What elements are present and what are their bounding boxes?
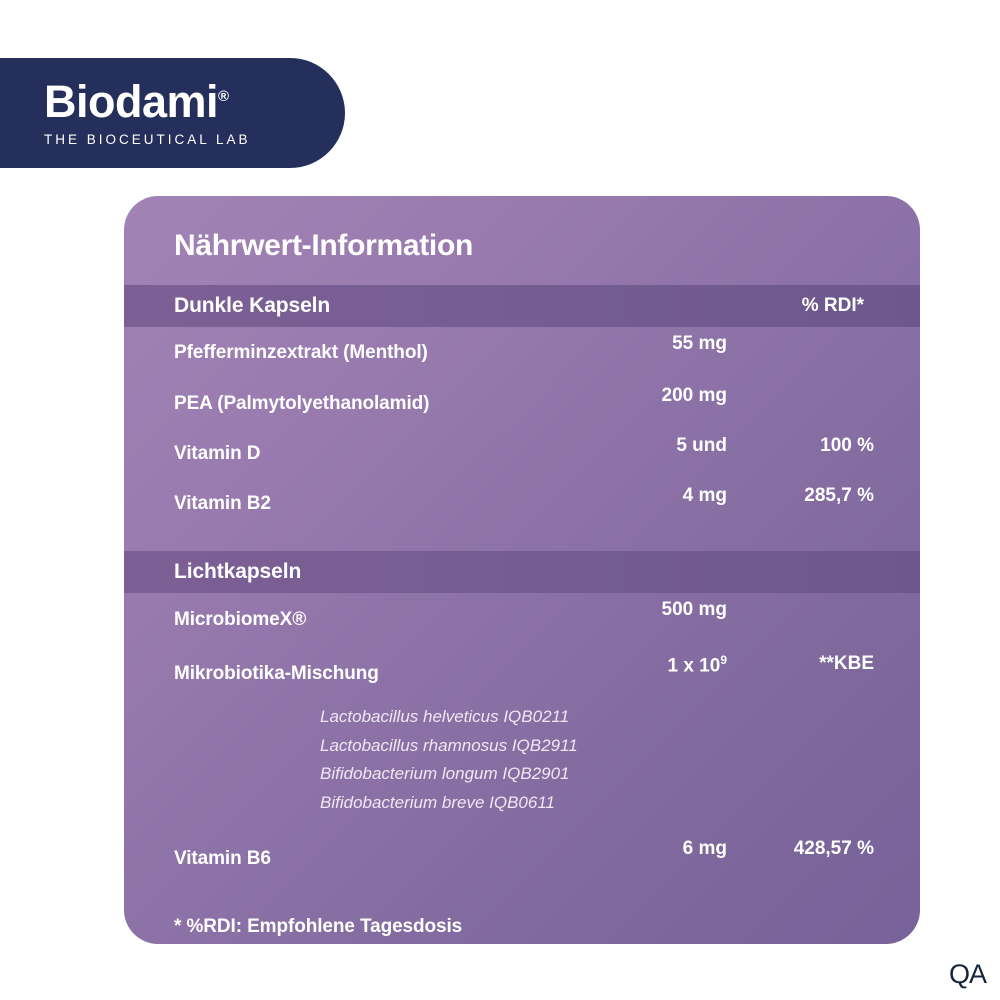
brand-tagline: THE BIOCEUTICAL LAB bbox=[44, 132, 345, 147]
section-header-lichtkapseln: Lichtkapseln bbox=[124, 551, 920, 593]
footnote-rdi: * %RDI: Empfohlene Tagesdosis bbox=[174, 913, 920, 940]
table-row: PEA (Palmytolyethanolamid) 200 mg bbox=[124, 379, 920, 429]
nutrient-amount: 6 mg bbox=[683, 838, 727, 860]
nutrient-amount: 200 mg bbox=[662, 385, 727, 407]
nutrient-rdi: 100 % bbox=[820, 435, 874, 457]
nutrient-label: MicrobiomeX® bbox=[174, 609, 306, 631]
section-title: Dunkle Kapseln bbox=[174, 294, 802, 318]
nutrient-label: Pfefferminzextrakt (Menthol) bbox=[174, 342, 428, 364]
section-header-dunkle-kapseln: Dunkle Kapseln % RDI* bbox=[124, 285, 920, 327]
nutrient-rdi: 285,7 % bbox=[804, 485, 874, 507]
nutrient-amount: 500 mg bbox=[662, 599, 727, 621]
table-row: Vitamin B2 4 mg 285,7 % bbox=[124, 479, 920, 529]
nutrient-rdi: 428,57 % bbox=[794, 838, 874, 860]
nutrition-information-card: Nährwert-Information Dunkle Kapseln % RD… bbox=[124, 196, 920, 944]
brand-wordmark: Biodami® bbox=[44, 79, 345, 124]
nutrient-label: PEA (Palmytolyethanolamid) bbox=[174, 393, 429, 415]
nutrient-amount: 55 mg bbox=[672, 333, 727, 355]
table-row: MicrobiomeX® 500 mg bbox=[124, 593, 920, 647]
nutrient-label: Vitamin D bbox=[174, 443, 260, 465]
table-row: Pfefferminzextrakt (Menthol) 55 mg bbox=[124, 327, 920, 379]
list-item: Bifidobacterium longum IQB2901 bbox=[320, 760, 920, 789]
list-item: Bifidobacterium breve IQB0611 bbox=[320, 789, 920, 818]
table-row: Mikrobiotika-Mischung 1 x 109 **KBE bbox=[124, 647, 920, 701]
nutrient-amount: 4 mg bbox=[683, 485, 727, 507]
registered-trademark-icon: ® bbox=[218, 88, 229, 105]
table-row: Vitamin D 5 und 100 % bbox=[124, 429, 920, 479]
section-title: Lichtkapseln bbox=[174, 560, 864, 584]
page-title: Nährwert-Information bbox=[124, 196, 920, 262]
nutrient-label: Vitamin B2 bbox=[174, 493, 271, 515]
nutrient-amount: 1 x 109 bbox=[667, 653, 727, 677]
footnote-kbe: **KBE: Koloniebildende Einheiten bbox=[174, 940, 920, 944]
rdi-column-header: % RDI* bbox=[802, 295, 864, 317]
nutrient-rdi: **KBE bbox=[819, 653, 874, 675]
nutrient-label: Mikrobiotika-Mischung bbox=[174, 663, 379, 685]
table-row: Vitamin B6 6 mg 428,57 % bbox=[124, 832, 920, 886]
list-item: Lactobacillus rhamnosus IQB2911 bbox=[320, 732, 920, 761]
nutrient-amount-base: 1 x 10 bbox=[667, 655, 720, 676]
section-rows-lichtkapseln: MicrobiomeX® 500 mg Mikrobiotika-Mischun… bbox=[124, 593, 920, 886]
watermark: QA bbox=[949, 959, 986, 990]
probiotic-strain-list: Lactobacillus helveticus IQB0211 Lactoba… bbox=[124, 703, 920, 817]
nutrient-label: Vitamin B6 bbox=[174, 848, 271, 870]
brand-badge: Biodami® THE BIOCEUTICAL LAB bbox=[0, 58, 345, 168]
section-rows-dunkle-kapseln: Pfefferminzextrakt (Menthol) 55 mg PEA (… bbox=[124, 327, 920, 529]
footnotes: * %RDI: Empfohlene Tagesdosis **KBE: Kol… bbox=[124, 886, 920, 944]
brand-wordmark-text: Biodami bbox=[44, 76, 218, 127]
list-item: Lactobacillus helveticus IQB0211 bbox=[320, 703, 920, 732]
nutrient-amount: 5 und bbox=[676, 435, 727, 457]
exponent-superscript: 9 bbox=[720, 653, 727, 667]
